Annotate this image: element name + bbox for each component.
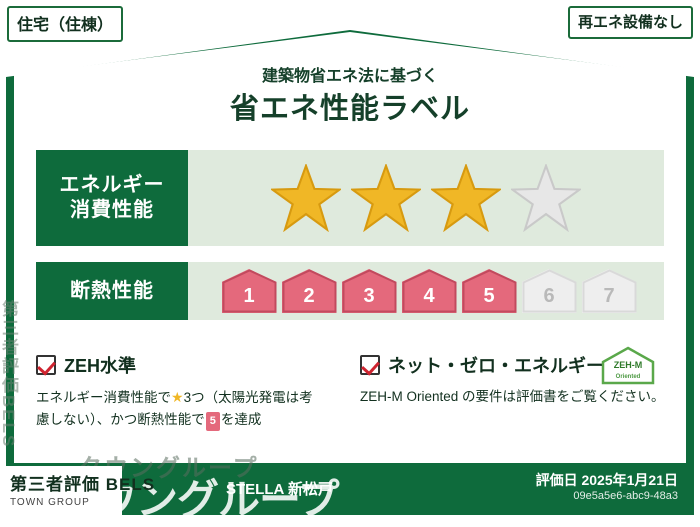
grade-marker-4: 4 (402, 269, 457, 313)
zeh-m-oriented-logo-icon: ZEH-M Oriented (600, 346, 656, 386)
grade-marker-1: 1 (222, 269, 277, 313)
note-nze-heading: ネット・ゼロ・エネルギー ZEH-M Oriented (360, 352, 665, 378)
star-icon-inline: ★ (171, 389, 184, 405)
note-nze-body: ZEH-M Oriented の要件は評価書をご覧ください。 (360, 386, 665, 408)
watermark-brand-title: 第三者評価 BELS (10, 470, 155, 495)
watermark-brand-subtitle: TOWN GROUP (10, 497, 90, 508)
note-net-zero-energy: ネット・ゼロ・エネルギー ZEH-M Oriented ZEH-M Orient… (360, 352, 665, 408)
grade-number: 2 (303, 285, 314, 313)
note-zeh: ZEH水準 エネルギー消費性能で★3つ（太陽光発電は考慮しない）、かつ断熱性能で… (36, 352, 326, 431)
row-insulation-value: 1 2 3 (188, 262, 664, 320)
grade-marker-7: 7 (582, 269, 637, 313)
row-energy-label-line1: エネルギー (60, 173, 165, 198)
row-energy-label: エネルギー 消費性能 (36, 150, 188, 246)
label-title: 省エネ性能ラベル (0, 85, 700, 127)
row-insulation-label-text: 断熱性能 (70, 279, 154, 304)
grade-badge-inline: 5 (206, 412, 220, 432)
note-zeh-text-part3: を達成 (221, 412, 262, 427)
note-zeh-heading-text: ZEH水準 (64, 352, 136, 378)
row-insulation-performance: 断熱性能 1 2 (36, 262, 664, 320)
tag-renewable-equipment: 再エネ設備なし (568, 6, 693, 39)
note-zeh-body: エネルギー消費性能で★3つ（太陽光発電は考慮しない）、かつ断熱性能で5を達成 (36, 386, 326, 431)
label-subtitle: 建築物省エネ法に基づく (0, 62, 700, 86)
star-icon-2 (351, 164, 421, 232)
grade-number: 4 (423, 285, 434, 313)
svg-text:ZEH-M: ZEH-M (614, 360, 643, 370)
grade-marker-3: 3 (342, 269, 397, 313)
grade-marker-5: 5 (462, 269, 517, 313)
note-zeh-text-part1: エネルギー消費性能で (36, 390, 171, 405)
star-icon-3 (431, 164, 501, 232)
checkbox-checked-icon (360, 355, 380, 375)
grade-number: 6 (543, 285, 554, 313)
grade-number: 7 (603, 285, 614, 313)
checkbox-checked-icon (36, 355, 56, 375)
watermark-vertical: 第三者評価BELS (0, 300, 21, 448)
grade-number: 3 (363, 285, 374, 313)
row-energy-label-line2: 消費性能 (70, 198, 154, 223)
footer-identifier: 09e5a5e6-abc9-48a3 (573, 490, 678, 502)
svg-text:Oriented: Oriented (616, 374, 641, 380)
row-energy-value (188, 150, 664, 246)
note-zeh-heading: ZEH水準 (36, 352, 326, 378)
grade-marker-6: 6 (522, 269, 577, 313)
energy-performance-label: 住宅（住棟） 再エネ設備なし 建築物省エネ法に基づく 省エネ性能ラベル エネルギ… (0, 0, 700, 521)
grade-number: 1 (243, 285, 254, 313)
star-rating (271, 164, 581, 232)
note-nze-heading-text: ネット・ゼロ・エネルギー (388, 352, 604, 378)
footer-evaluation-date: 評価日 2025年1月21日 (536, 470, 678, 490)
row-insulation-label: 断熱性能 (36, 262, 188, 320)
star-icon-1 (271, 164, 341, 232)
row-energy-performance: エネルギー 消費性能 (36, 150, 664, 246)
tag-building-type: 住宅（住棟） (7, 6, 123, 42)
grade-number: 5 (483, 285, 494, 313)
grade-marker-2: 2 (282, 269, 337, 313)
insulation-grade-scale: 1 2 3 (216, 269, 637, 313)
star-icon-4-empty (511, 164, 581, 232)
